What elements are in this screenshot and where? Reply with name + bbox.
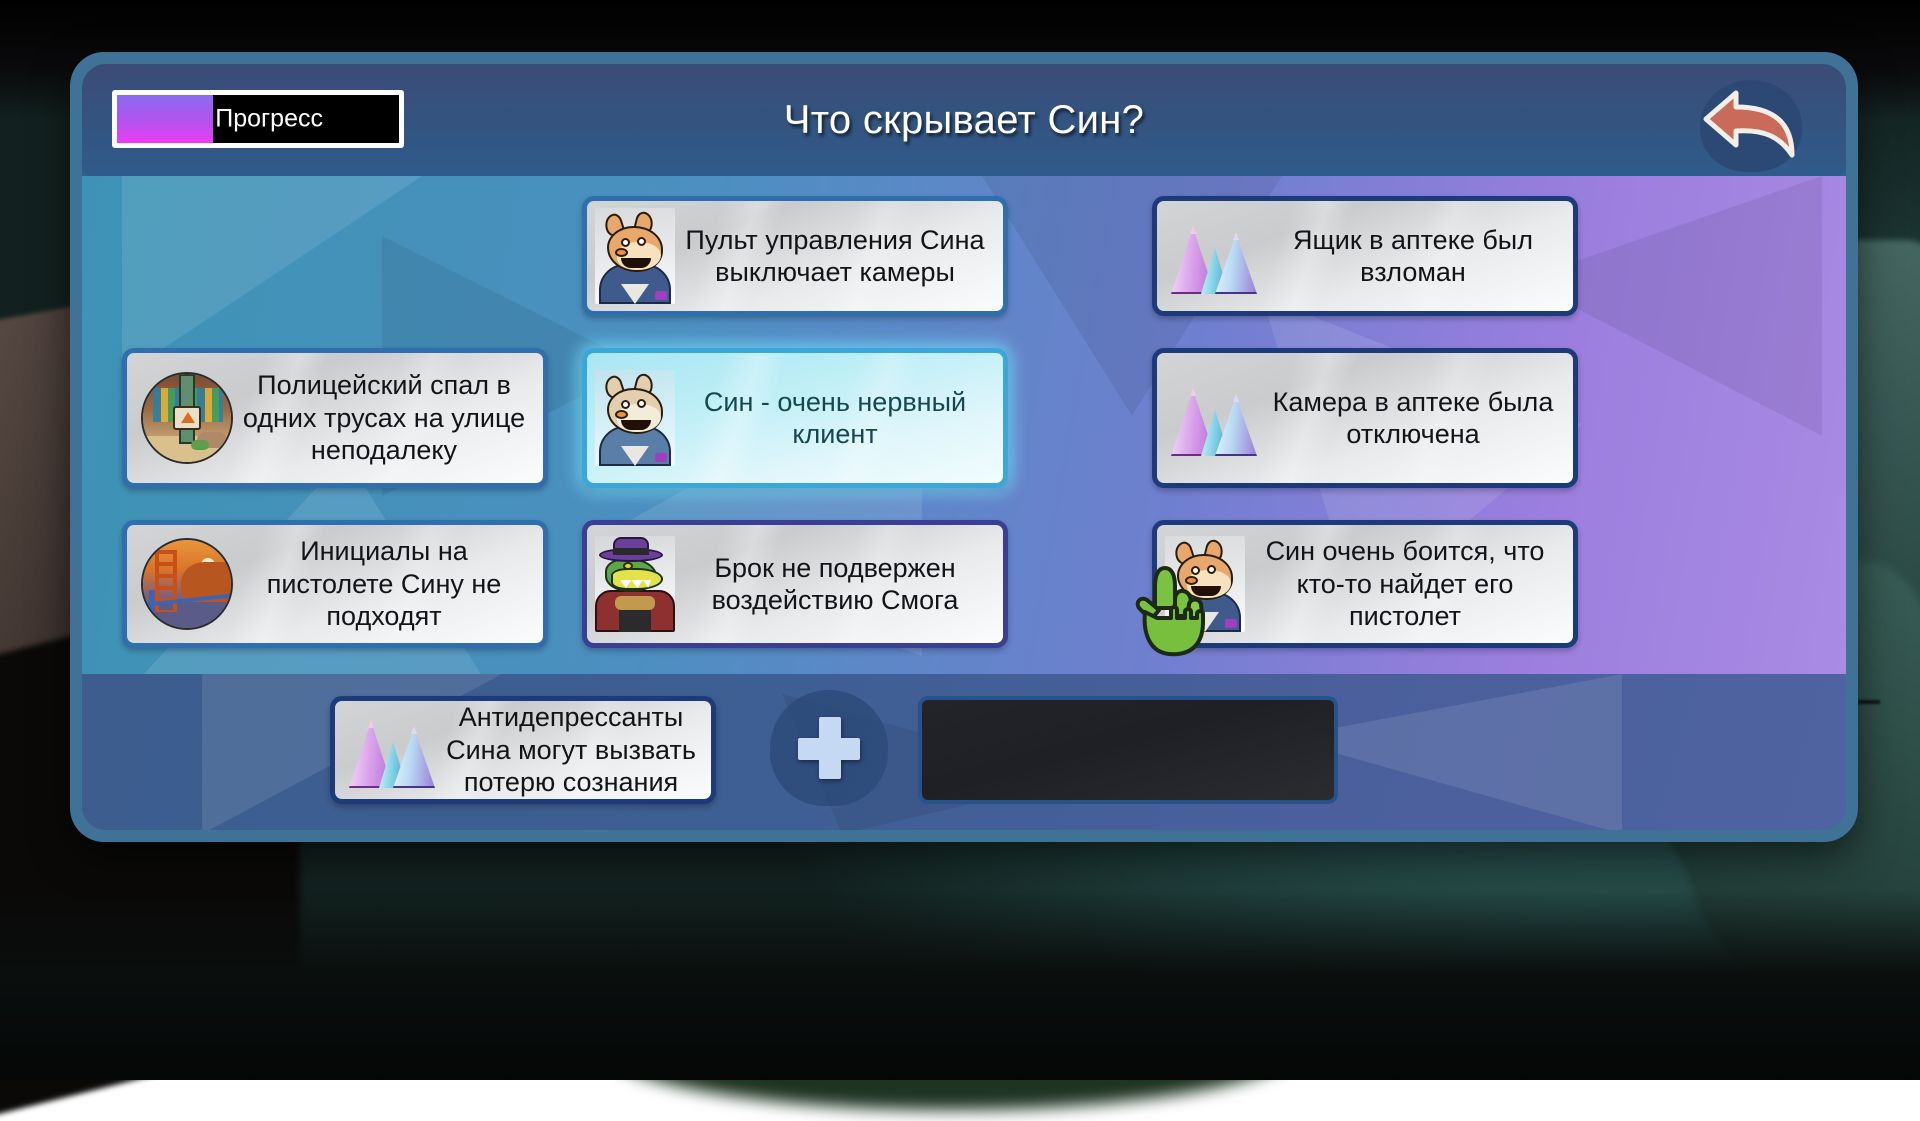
background-floor-shadow: [0, 890, 1920, 1080]
sin-cat-portrait: [595, 208, 675, 304]
evidence-card-brock[interactable]: Брок не подвержен воздействию Смога: [582, 520, 1008, 648]
evidence-grid: Пульт управления Сина выключает камеры Я…: [82, 176, 1846, 674]
pills-cones-icon: [343, 706, 439, 794]
card-label: Полицейский спал в одних трусах на улице…: [233, 369, 543, 466]
card-label: Ящик в аптеке был взломан: [1261, 224, 1573, 289]
card-inner: Пульт управления Сина выключает камеры: [587, 201, 1003, 311]
evidence-card-camera[interactable]: Камера в аптеке была отключена: [1152, 348, 1578, 488]
card-label: Инициалы на пистолете Сину не подходят: [233, 535, 543, 632]
empty-answer-slot[interactable]: [918, 696, 1338, 804]
back-button[interactable]: [1692, 74, 1810, 170]
card-inner: Брок не подвержен воздействию Смога: [587, 525, 1003, 643]
evidence-card-nervous[interactable]: Син - очень нервный клиент: [582, 348, 1008, 488]
card-inner: Ящик в аптеке был взломан: [1157, 201, 1573, 311]
pills-cones-icon: [1165, 374, 1261, 462]
dock-sunset-icon: [141, 538, 233, 630]
card-label: Син - очень нервный клиент: [675, 386, 1003, 451]
card-label: Брок не подвержен воздействию Смога: [675, 552, 1003, 617]
add-button[interactable]: [770, 690, 888, 806]
sin-cat-portrait: [1165, 536, 1245, 632]
street-scene-icon: [141, 372, 233, 464]
pills-cones-icon: [1165, 212, 1261, 300]
card-inner: Син - очень нервный клиент: [587, 353, 1003, 483]
evidence-board: Пульт управления Сина выключает камеры Я…: [82, 176, 1846, 674]
evidence-dialog: Прогресс Что скрывает Син?: [70, 52, 1858, 842]
card-label: Камера в аптеке была отключена: [1261, 386, 1573, 451]
evidence-card-cop[interactable]: Полицейский спал в одних трусах на улице…: [122, 348, 548, 488]
dialog-inner: Прогресс Что скрывает Син?: [82, 64, 1846, 830]
dialog-header: Прогресс Что скрывает Син?: [82, 64, 1846, 176]
brock-croc-portrait: [595, 536, 675, 632]
sin-cat-portrait-gray: [595, 370, 675, 466]
empty-answer-slot-hole: [922, 700, 1334, 800]
answer-slot-card[interactable]: Антидепрессанты Сина могут вызвать потер…: [330, 696, 716, 804]
card-label: Пульт управления Сина выключает камеры: [675, 224, 1003, 289]
card-inner: Камера в аптеке была отключена: [1157, 353, 1573, 483]
page-title: Что скрывает Син?: [82, 64, 1846, 176]
evidence-card-drawer[interactable]: Ящик в аптеке был взломан: [1152, 196, 1578, 316]
card-label: Син очень боится, что кто-то найдет его …: [1245, 535, 1573, 632]
evidence-card-afraid[interactable]: Син очень боится, что кто-то найдет его …: [1152, 520, 1578, 648]
card-inner: Полицейский спал в одних трусах на улице…: [127, 353, 543, 483]
plus-icon: [798, 717, 860, 779]
evidence-card-initials[interactable]: Инициалы на пистолете Сину не подходят: [122, 520, 548, 648]
card-label: Антидепрессанты Сина могут вызвать потер…: [439, 701, 711, 798]
evidence-card-remote[interactable]: Пульт управления Сина выключает камеры: [582, 196, 1008, 316]
answer-bar: Антидепрессанты Сина могут вызвать потер…: [82, 674, 1846, 830]
back-arrow-icon: [1696, 79, 1806, 165]
card-inner: Антидепрессанты Сина могут вызвать потер…: [335, 701, 711, 799]
card-inner: Инициалы на пистолете Сину не подходят: [127, 525, 543, 643]
card-inner: Син очень боится, что кто-то найдет его …: [1157, 525, 1573, 643]
